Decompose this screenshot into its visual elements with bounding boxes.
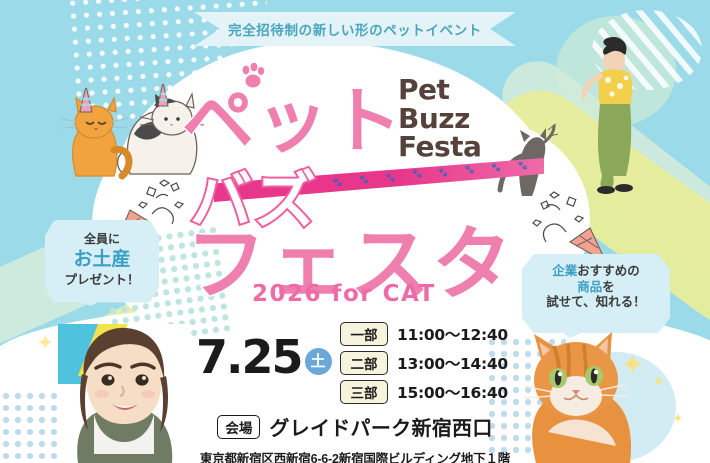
session-row: 二部 13:00～14:40 xyxy=(340,351,508,375)
session-label: 三部 xyxy=(340,380,388,404)
session-label: 一部 xyxy=(340,322,388,346)
bubble-right-line1: 企業おすすめの xyxy=(522,264,670,280)
venue-name: グレイドパーク新宿西口 xyxy=(269,412,492,441)
speech-bubble-souvenir: 全員に お土産 プレゼント！ xyxy=(45,220,159,306)
sparkle-icon-3: ✦ xyxy=(36,330,54,356)
bubble-left-line1: 全員に xyxy=(45,232,159,247)
bubble-right-line2: 商品を xyxy=(522,280,670,296)
session-row: 一部 11:00～12:40 xyxy=(340,322,508,346)
session-time: 11:00～12:40 xyxy=(397,323,508,345)
orange-cat-illustration xyxy=(48,84,144,180)
bubble-right-line2-rest: を xyxy=(602,280,615,294)
bubble-left-line3: プレゼント！ xyxy=(45,273,159,289)
bubble-right-line1-rest: おすすめの xyxy=(577,264,640,278)
session-time: 13:00～14:40 xyxy=(397,352,508,374)
event-date-dayofweek: 土 xyxy=(305,348,332,375)
party-popper-illustration-right xyxy=(520,180,612,266)
session-row: 三部 15:00～16:40 xyxy=(340,380,508,404)
ribbon-text: 完全招待制の新しい形のペットイベント xyxy=(228,19,482,39)
session-label: 二部 xyxy=(340,351,388,375)
event-date-number: 7.25 xyxy=(196,330,302,384)
bubble-right-line2-highlight: 商品 xyxy=(577,280,602,294)
sparkle-icon-4: ✦ xyxy=(672,410,684,427)
bubble-left-line2: お土産 xyxy=(45,248,159,272)
session-schedule-list: 一部 11:00～12:40 二部 13:00～14:40 三部 15:00～1… xyxy=(340,322,508,409)
bubble-right-line1-highlight: 企業 xyxy=(552,264,577,278)
event-poster: 完全招待制の新しい形のペットイベント 🐾 🐾 🐾 🐾 🐾 🐾 🐾 🐾 ペット バ… xyxy=(0,0,710,463)
speech-bubble-products: 企業おすすめの 商品を 試せて、知れる！ xyxy=(522,254,670,338)
woman-presenter-photo xyxy=(58,324,190,463)
bubble-right-line3: 試せて、知れる！ xyxy=(522,295,670,311)
event-date: 7.25土 xyxy=(196,330,332,384)
top-ribbon-banner: 完全招待制の新しい形のペットイベント xyxy=(0,12,710,46)
venue-label: 会場 xyxy=(217,415,260,439)
orange-tabby-cat-photo xyxy=(508,332,658,463)
woman-with-cat-toy-illustration xyxy=(582,36,660,196)
session-time: 15:00～16:40 xyxy=(397,381,508,403)
ribbon-shape: 完全招待制の新しい形のペットイベント xyxy=(194,12,516,46)
